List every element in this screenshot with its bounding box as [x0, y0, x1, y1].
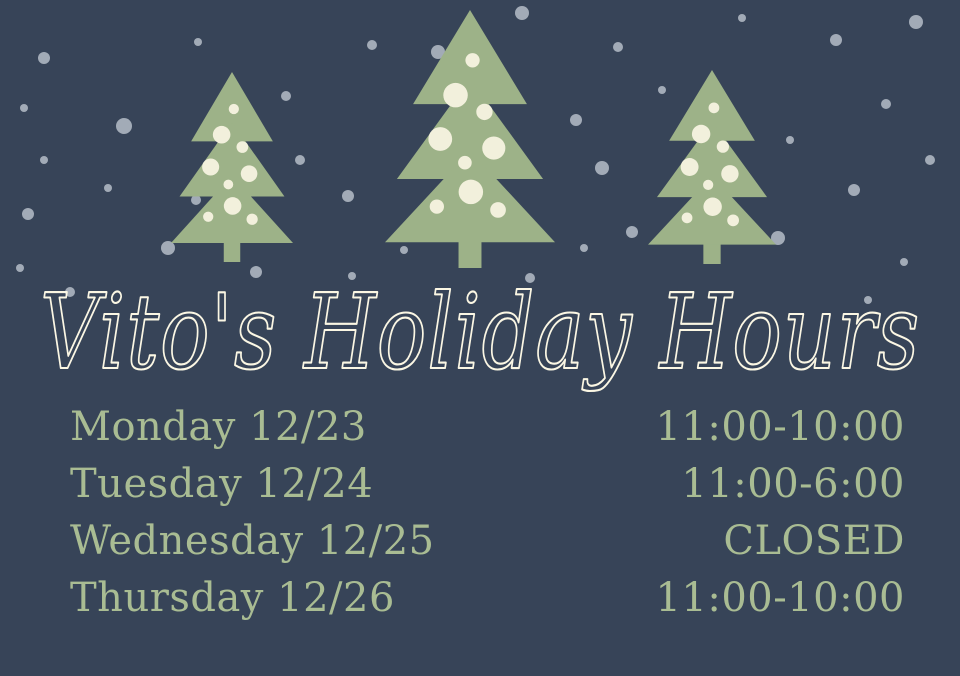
snowflake-dot: [848, 184, 860, 196]
day-label: Tuesday 12/24: [70, 461, 373, 507]
tree-ornament: [476, 104, 492, 120]
snowflake-dot: [515, 6, 529, 20]
snowflake-dot: [580, 244, 588, 252]
snowflake-dot: [342, 190, 354, 202]
snowflake-dot: [658, 86, 666, 94]
snowflake-dot: [281, 91, 291, 101]
time-value: 11:00-6:00: [681, 461, 905, 507]
tree-tier-2: [180, 122, 285, 196]
snowflake-dot: [194, 38, 202, 46]
tree-ornament: [721, 165, 738, 182]
title-text: Vito's Holiday Hours: [40, 273, 920, 394]
hours-row: Tuesday 12/24 11:00-6:00: [0, 461, 960, 518]
tree-ornament: [229, 104, 239, 114]
snowflake-dot: [881, 99, 891, 109]
tree-ornament: [430, 199, 444, 213]
day-label: Thursday 12/26: [70, 575, 395, 621]
left-tree: [171, 72, 293, 262]
tree-tier-1: [669, 70, 755, 141]
tree-ornament: [203, 212, 213, 222]
tree-ornament: [443, 83, 467, 107]
tree-ornament: [237, 141, 249, 153]
snowflake-dot: [104, 184, 112, 192]
snowflake-dot: [431, 45, 445, 59]
tree-trunk: [224, 234, 240, 262]
snowflake-dot: [925, 155, 935, 165]
snowflake-dot: [472, 124, 480, 132]
snowflake-dot: [116, 118, 132, 134]
tree-ornament: [482, 136, 505, 159]
snowflake-dot: [498, 196, 506, 204]
snowflake-dot: [771, 231, 785, 245]
tree-ornament: [458, 156, 472, 170]
tree-ornament: [682, 212, 693, 223]
tree-ornament: [703, 180, 713, 190]
hours-list: Monday 12/23 11:00-10:00 Tuesday 12/24 1…: [0, 404, 960, 632]
tree-ornament: [428, 127, 452, 151]
snowflake-dot: [570, 114, 582, 126]
tree-ornament: [224, 197, 242, 215]
title-script-svg: Vito's Holiday Hours: [15, 268, 945, 408]
snowflake-dot: [909, 15, 923, 29]
tree-ornament: [717, 140, 729, 152]
holiday-hours-poster: Vito's Holiday Hours Monday 12/23 11:00-…: [0, 0, 960, 676]
tree-ornament: [692, 125, 710, 143]
snowflake-dot: [595, 161, 609, 175]
hours-row: Wednesday 12/25 CLOSED: [0, 518, 960, 575]
snowflake-dot: [613, 42, 623, 52]
tree-ornament: [223, 180, 233, 190]
tree-tier-2: [657, 121, 767, 197]
time-value: CLOSED: [723, 518, 905, 564]
tree-tier-2: [397, 78, 543, 179]
snowflake-dot: [715, 119, 725, 129]
day-label: Wednesday 12/25: [70, 518, 435, 564]
tree-ornament: [241, 165, 258, 182]
time-value: 11:00-10:00: [655, 404, 905, 450]
snowflake-dot: [626, 226, 638, 238]
snowflake-dot: [40, 156, 48, 164]
right-tree: [648, 70, 776, 264]
tree-ornament: [703, 198, 721, 216]
tree-tier-3: [385, 151, 555, 243]
tree-ornament: [459, 180, 483, 204]
snowflake-dot: [38, 52, 50, 64]
snowflake-dot: [738, 14, 746, 22]
tree-ornament: [709, 102, 720, 113]
snowflake-dot: [22, 208, 34, 220]
tree-ornament: [213, 126, 231, 144]
tree-tier-1: [191, 72, 273, 141]
snowflake-dot: [161, 241, 175, 255]
day-label: Monday 12/23: [70, 404, 367, 450]
tree-ornament: [202, 158, 219, 175]
tree-ornament: [490, 202, 506, 218]
tree-tier-1: [413, 10, 527, 104]
snowflake-dot: [900, 258, 908, 266]
hours-row: Monday 12/23 11:00-10:00: [0, 404, 960, 461]
tree-tier-3: [171, 176, 293, 243]
tree-trunk: [459, 231, 482, 268]
tree-ornament: [681, 158, 699, 176]
time-value: 11:00-10:00: [655, 575, 905, 621]
tree-ornament: [247, 214, 258, 225]
tree-tier-3: [648, 176, 776, 245]
tree-ornament: [727, 214, 739, 226]
snowflake-dot: [191, 195, 201, 205]
snowflake-dot: [830, 34, 842, 46]
tree-trunk: [703, 236, 720, 264]
hours-row: Thursday 12/26 11:00-10:00: [0, 575, 960, 632]
snowflake-dot: [367, 40, 377, 50]
snowflake-dot: [20, 104, 28, 112]
snowflake-dot: [786, 136, 794, 144]
tree-ornament: [465, 53, 479, 67]
snowflake-dot: [295, 155, 305, 165]
center-tree: [385, 10, 555, 268]
poster-title: Vito's Holiday Hours: [0, 268, 960, 408]
snowflake-dot: [400, 246, 408, 254]
